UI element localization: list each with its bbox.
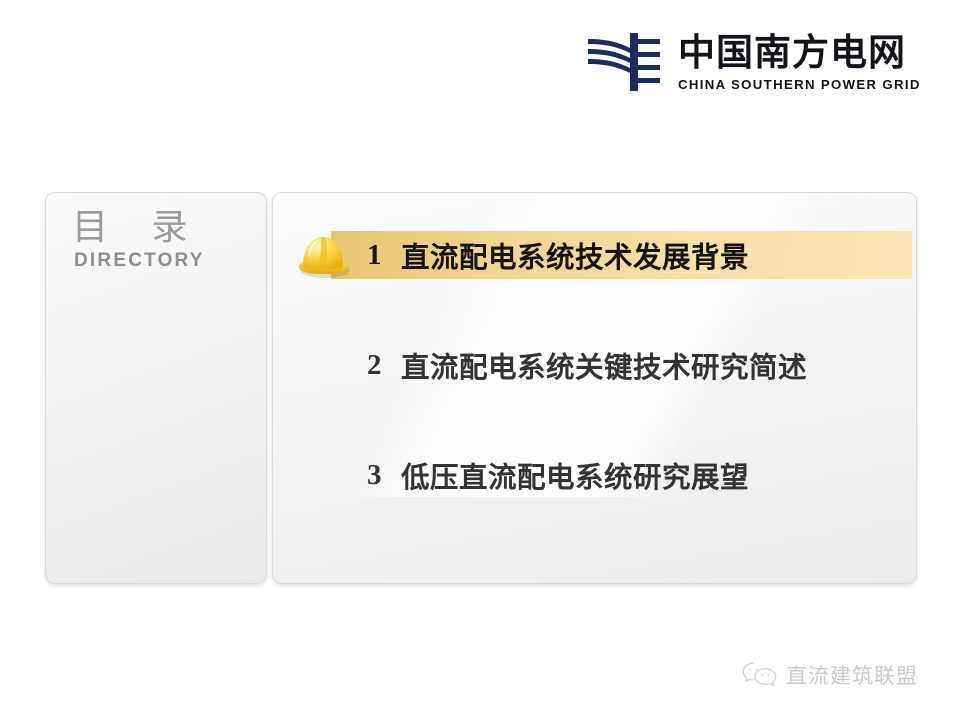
brand-text: 中国南方电网 CHINA SOUTHERN POWER GRID (678, 32, 921, 92)
brand-name-en: CHINA SOUTHERN POWER GRID (678, 77, 921, 92)
brand-logo: 中国南方电网 CHINA SOUTHERN POWER GRID (586, 26, 916, 98)
watermark-text: 直流建筑联盟 (786, 660, 918, 690)
toc-item-3[interactable]: 3 低压直流配电系统研究展望 (273, 451, 916, 499)
toc-item-3-label: 低压直流配电系统研究展望 (401, 455, 749, 496)
contents-panel: 1 直流配电系统技术发展背景 2 直流配电系统关键技术研究简述 3 低压直流配电… (272, 192, 917, 584)
hard-hat-icon (291, 222, 355, 286)
wechat-icon (742, 660, 778, 690)
toc-item-1-label: 直流配电系统技术发展背景 (401, 235, 749, 276)
directory-title-en: DIRECTORY (62, 250, 250, 272)
brand-name-cn: 中国南方电网 (678, 34, 921, 73)
directory-panel: 目 录 DIRECTORY (45, 192, 267, 584)
toc-item-2[interactable]: 2 直流配电系统关键技术研究简述 (273, 341, 916, 389)
toc-item-2-label: 直流配电系统关键技术研究简述 (401, 345, 807, 386)
directory-title-cn: 目 录 (62, 207, 250, 248)
toc-item-1[interactable]: 1 直流配电系统技术发展背景 (273, 231, 916, 279)
toc-item-2-number: 2 (367, 351, 401, 380)
directory-heading-group: 目 录 DIRECTORY (46, 207, 266, 272)
contents-list: 1 直流配电系统技术发展背景 2 直流配电系统关键技术研究简述 3 低压直流配电… (273, 193, 916, 583)
toc-item-1-number: 1 (367, 241, 401, 270)
watermark: 直流建筑联盟 (742, 660, 918, 690)
csg-logo-mark (586, 31, 664, 93)
toc-item-3-number: 3 (367, 461, 401, 490)
